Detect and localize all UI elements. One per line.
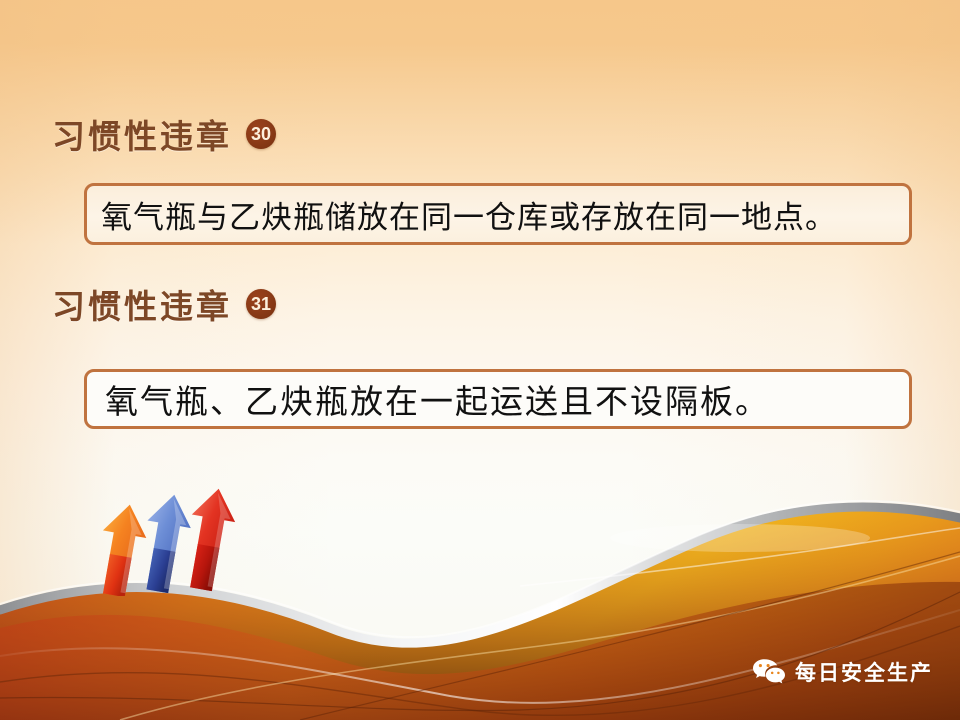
statement-box-1: 氧气瓶与乙炔瓶储放在同一仓库或存放在同一地点。 bbox=[84, 183, 912, 245]
wechat-watermark: 每日安全生产 bbox=[752, 657, 933, 687]
three-rising-arrows-icon bbox=[96, 486, 246, 596]
section-heading-label: 习惯性违章 bbox=[52, 280, 232, 328]
section-heading-label: 习惯性违章 bbox=[52, 110, 232, 158]
section-number-badge: 30 bbox=[246, 119, 276, 149]
slide-canvas: 习惯性违章 30 氧气瓶与乙炔瓶储放在同一仓库或存放在同一地点。 习惯性违章 3… bbox=[0, 0, 960, 720]
statement-box-2: 氧气瓶、乙炔瓶放在一起运送且不设隔板。 bbox=[84, 369, 912, 429]
statement-text: 氧气瓶、乙炔瓶放在一起运送且不设隔板。 bbox=[105, 375, 770, 423]
section-heading-1: 习惯性违章 30 bbox=[52, 110, 276, 158]
watermark-text: 每日安全生产 bbox=[795, 657, 933, 687]
section-number-badge: 31 bbox=[246, 289, 276, 319]
section-heading-2: 习惯性违章 31 bbox=[52, 280, 276, 328]
statement-text: 氧气瓶与乙炔瓶储放在同一仓库或存放在同一地点。 bbox=[101, 192, 837, 237]
wechat-icon bbox=[752, 658, 786, 686]
